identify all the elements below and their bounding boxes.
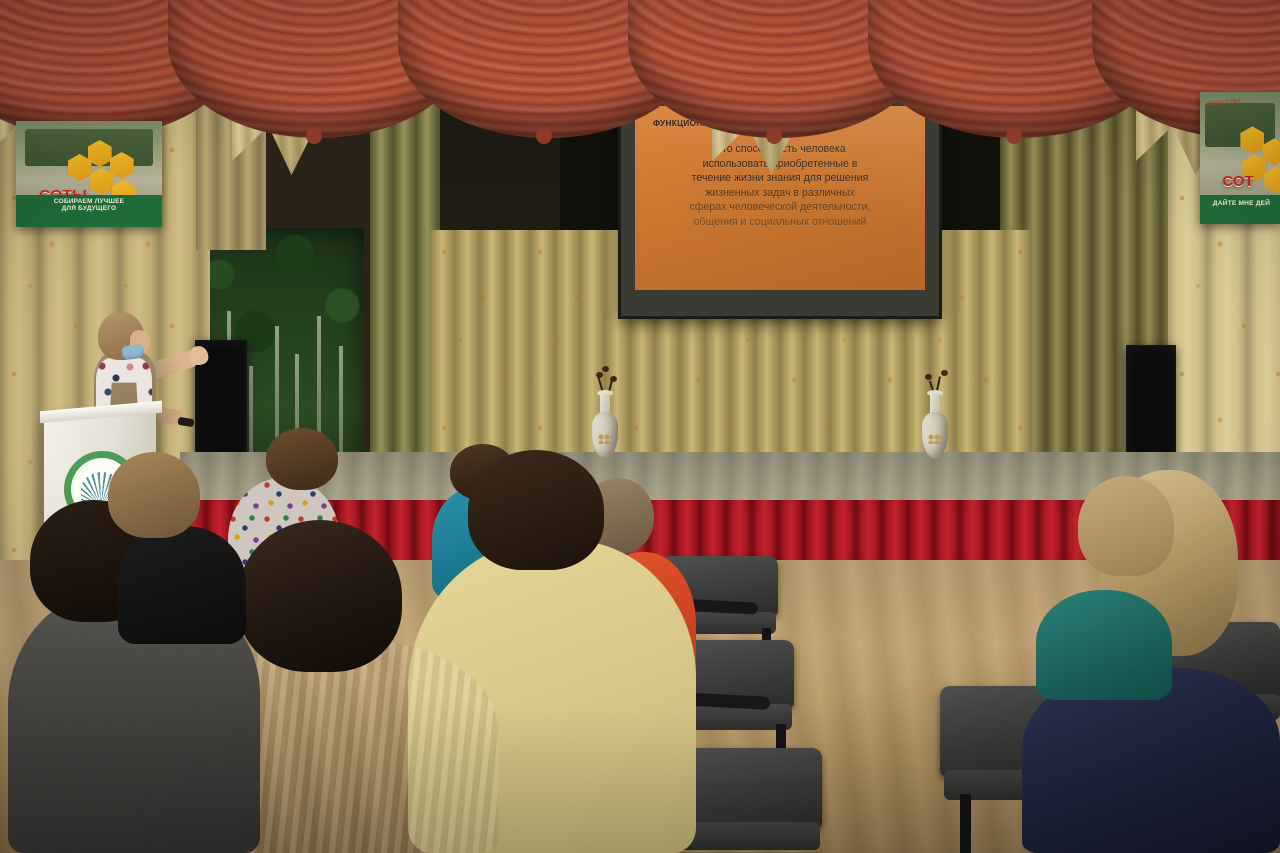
banner-tagline-strip-left: СОБИРАЕМ ЛУЧШЕЕ ДЛЯ БУДУЩЕГО bbox=[16, 195, 162, 227]
slide-line: общения и социальных отношений bbox=[647, 215, 913, 230]
banner-tagline-strip-right: ДАЙТЕ МНЕ ДЕЙ bbox=[1200, 195, 1280, 224]
slide-line: течение жизни знания для решения bbox=[647, 171, 913, 186]
banner-soty-left: СОТЫ СОБИРАЕМ ЛУЧШЕЕ ДЛЯ БУДУЩЕГО bbox=[16, 121, 162, 227]
auditorium-scene: ФУНКЦИОНАЛЬНАЯ ГРАМОТНОСТЬ – ЭТО... Это … bbox=[0, 0, 1280, 853]
banner-tagline-line2: ДЛЯ БУДУЩЕГО bbox=[16, 206, 162, 213]
slide-line: сферах человеческой деятельности, bbox=[647, 200, 913, 215]
banner-soty-right: МОГУ СЛЫ СОТ ДАЙТЕ МНЕ ДЕЙ bbox=[1200, 92, 1280, 224]
slide-line: жизненных задач в различных bbox=[647, 186, 913, 201]
flower-vase-left bbox=[592, 388, 622, 458]
stage-valance bbox=[0, 0, 1280, 120]
flower-vase-right bbox=[922, 388, 952, 458]
slide-line: использовать приобретенные в bbox=[647, 157, 913, 172]
banner-tagline-line1: ДАЙТЕ МНЕ ДЕЙ bbox=[1200, 195, 1280, 208]
banner-brand-right: СОТ bbox=[1222, 173, 1253, 190]
